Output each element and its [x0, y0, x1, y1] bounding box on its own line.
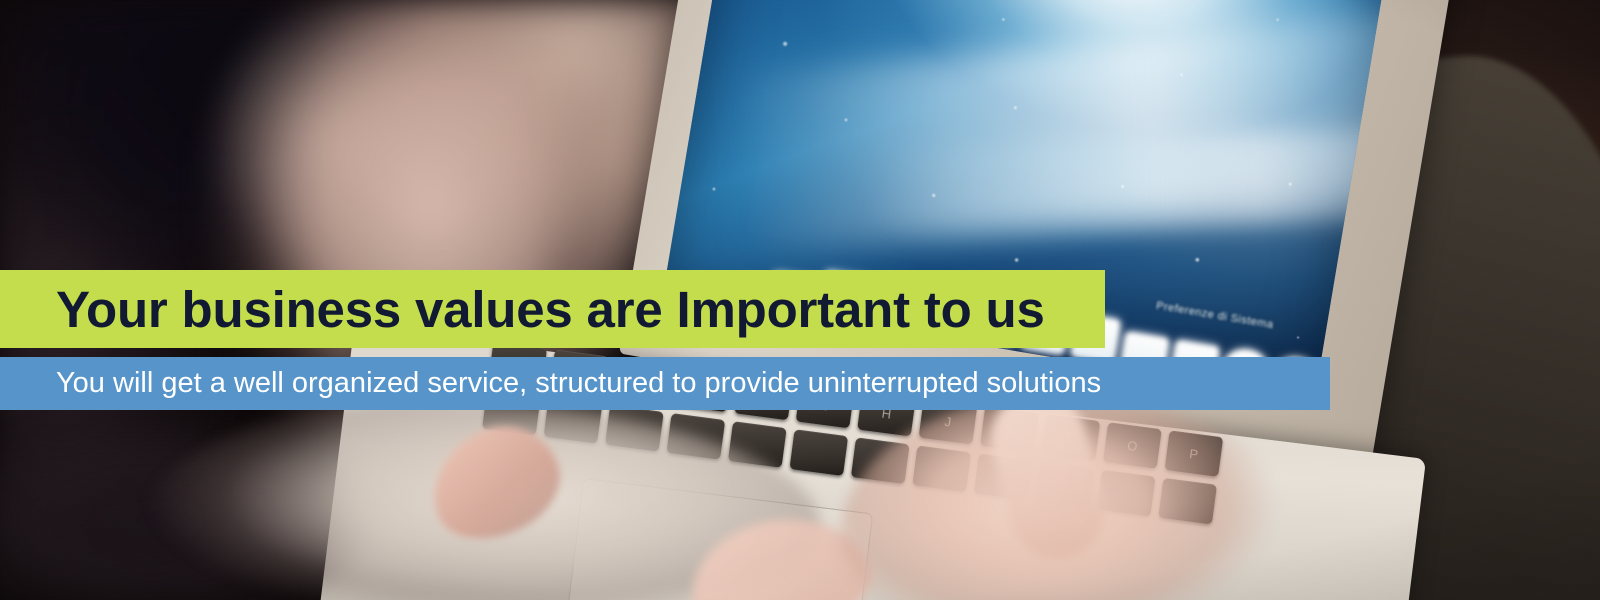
hero-banner: Preferenze di Sistema X C V B	[0, 0, 1600, 600]
subheadline-bar: You will get a well organized service, s…	[0, 357, 1330, 410]
headline-text: Your business values are Important to us	[56, 284, 1045, 335]
key	[789, 429, 848, 476]
headline-bar: Your business values are Important to us	[0, 270, 1105, 348]
subheadline-text: You will get a well organized service, s…	[56, 369, 1101, 398]
